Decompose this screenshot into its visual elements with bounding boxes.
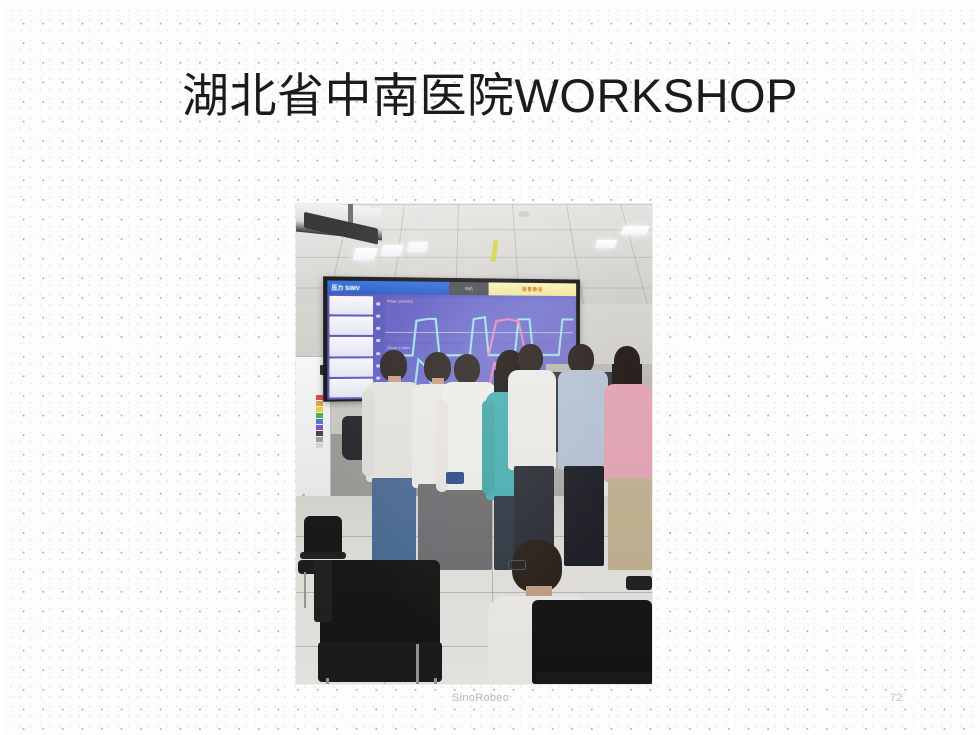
- whiteboard-color-strip: [316, 395, 323, 449]
- eyeglasses: [508, 560, 526, 570]
- marker-dot: [376, 314, 380, 317]
- marker-dot: [376, 302, 380, 305]
- footer-page-number: 72: [890, 692, 902, 704]
- alarm-banner: 报警静音: [489, 282, 577, 296]
- page-title: 湖北省中南医院WORKSHOP: [0, 70, 980, 123]
- marker-dot: [376, 339, 380, 342]
- smartphone: [446, 472, 464, 484]
- marker-dot: [376, 352, 380, 355]
- slide-top-edge: [0, 0, 980, 5]
- slide-photo: 压力 SIMV 待机 报警静音: [296, 204, 652, 684]
- marker-dot: [376, 327, 380, 330]
- marker-dot: [376, 377, 380, 380]
- ceiling-light: [407, 242, 428, 252]
- parameter-tile: [329, 317, 373, 336]
- pressure-waveform-plot: Paw cmH2O: [385, 297, 573, 342]
- ceiling-light: [352, 248, 377, 260]
- ceiling-light: [381, 245, 404, 256]
- ventilation-mode-label: 压力 SIMV: [327, 280, 449, 294]
- slide-canvas: 湖北省中南医院WORKSHOP: [0, 0, 980, 735]
- ceiling-light: [595, 240, 618, 248]
- parameter-tile: [329, 358, 373, 377]
- ceiling-light: [620, 226, 649, 235]
- parameter-tile: [329, 296, 373, 315]
- display-top-bar: 压力 SIMV 待机 报警静音: [327, 280, 576, 296]
- photo-content: 压力 SIMV 待机 报警静音: [296, 204, 652, 684]
- parameter-tile: [329, 337, 373, 356]
- smoke-detector-icon: [518, 211, 529, 217]
- parameter-panel-column: [329, 296, 373, 398]
- footer-brand: SinoRobeo: [452, 692, 509, 704]
- display-status-label: 待机: [449, 282, 489, 295]
